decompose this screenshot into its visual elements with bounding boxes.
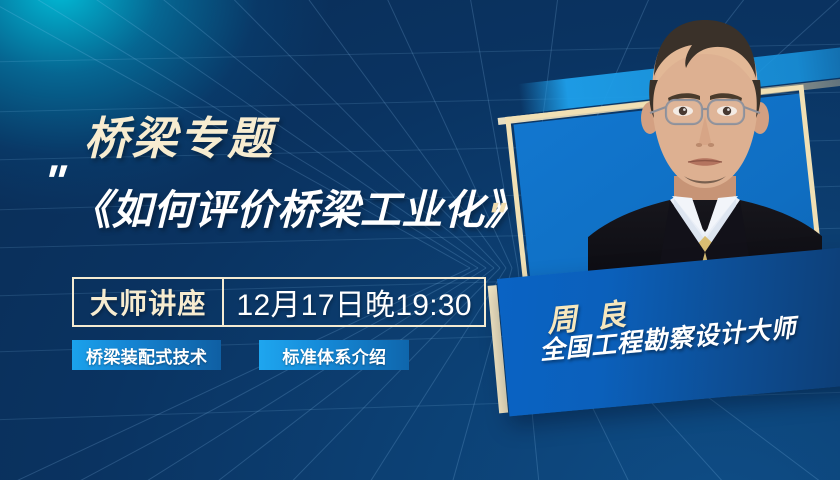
poster-canvas: 周 良 全国工程勘察设计大师 桥梁专题 " 《如何评价桥梁工业化》 " 大师讲座…	[0, 0, 840, 480]
topic-tag: 桥梁装配式技术	[72, 340, 221, 370]
lecture-datetime: 12月17日晚19:30	[224, 279, 483, 325]
lecture-label: 大师讲座	[74, 279, 222, 325]
quote-open-icon: "	[40, 168, 67, 196]
page-title: 桥梁专题	[84, 102, 275, 167]
lecture-info-bar: 大师讲座 12月17日晚19:30	[72, 277, 486, 327]
topic-tag-list: 桥梁装配式技术 标准体系介绍	[72, 340, 409, 370]
topic-tag: 标准体系介绍	[259, 340, 409, 370]
page-subtitle: 《如何评价桥梁工业化》	[70, 176, 526, 236]
